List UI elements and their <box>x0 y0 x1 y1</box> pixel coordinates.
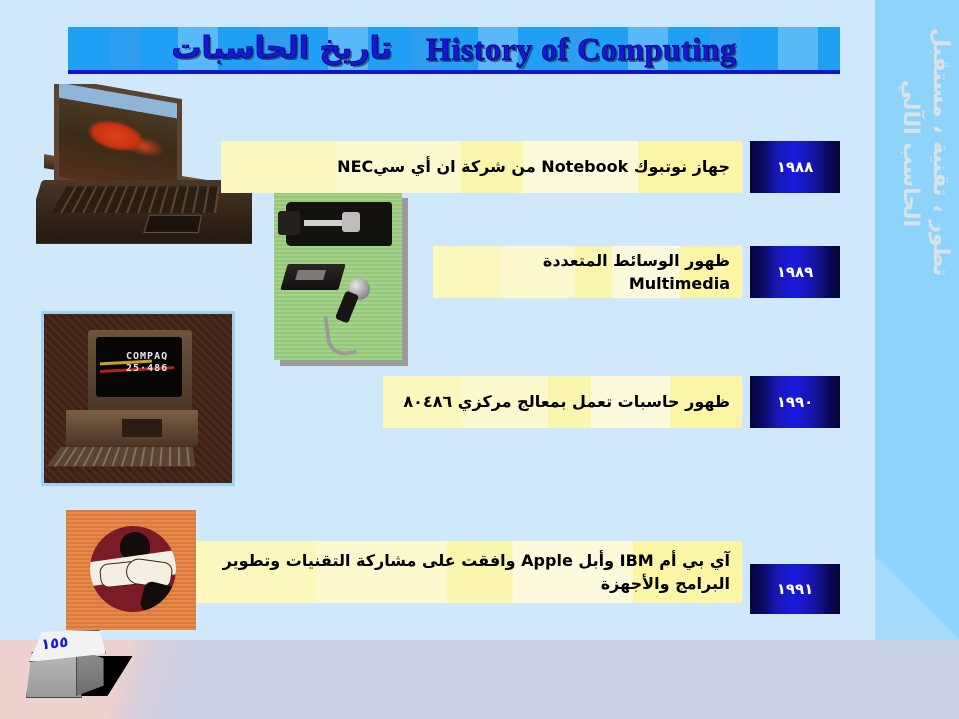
event-band-1991: آي بي أم IBM وأبل Apple وافقت على مشاركة… <box>196 541 742 603</box>
crt-monitor: COMPAQ 486·25 <box>88 330 192 412</box>
camcorder-icon <box>286 202 392 246</box>
event-text-1988: جهاز نوتبوك Notebook من شركة ان أي سيNEC <box>233 155 730 178</box>
event-band-1990: ظهور حاسبات تعمل بمعالج مركزي ٨٠٤٨٦ <box>383 376 742 428</box>
desktop-keyboard <box>46 447 195 467</box>
event-band-1989: ظهور الوسائط المتعددة Multimedia <box>433 246 742 298</box>
slide-canvas: تطور ، تقنية ، مستقبل الحاسب الآلي Histo… <box>0 0 959 719</box>
event-text-1990: ظهور حاسبات تعمل بمعالج مركزي ٨٠٤٨٦ <box>395 390 730 413</box>
year-badge-1990: ١٩٩٠ <box>750 376 840 428</box>
handshake-agreement-illustration <box>66 510 196 630</box>
laptop-keyboard <box>51 186 219 212</box>
year-badge-1988: ١٩٨٨ <box>750 141 840 193</box>
notebook-laptop-photo <box>36 84 252 266</box>
event-band-1988: جهاز نوتبوك Notebook من شركة ان أي سيNEC <box>221 141 742 193</box>
compaq-model: 486·25 <box>126 363 168 374</box>
title-english: History of Computing <box>426 33 736 65</box>
multimedia-devices-photo <box>274 192 402 360</box>
laptop-base <box>36 180 252 244</box>
camcorder-strip <box>304 220 344 226</box>
year-badge-1991: ١٩٩١ <box>750 564 840 614</box>
page-number-text: ١٥٥ <box>41 633 68 654</box>
sidebar-strip: تطور ، تقنية ، مستقبل الحاسب الآلي <box>875 0 959 640</box>
year-badge-1989: ١٩٨٩ <box>750 246 840 298</box>
bottom-diagonal-shape <box>0 640 959 719</box>
microphone-cord-icon <box>323 312 357 357</box>
event-text-1989: ظهور الوسائط المتعددة Multimedia <box>445 249 730 295</box>
title-arabic: تاريخ الحاسبات <box>171 34 392 64</box>
compaq-logo-text: COMPAQ 486·25 <box>126 351 168 374</box>
handshake-dark-sleeve <box>139 580 176 612</box>
handshake-circle <box>90 526 176 612</box>
videotape-icon <box>280 264 345 290</box>
title-banner: History of Computing تاريخ الحاسبات <box>68 27 840 74</box>
compaq-brand: COMPAQ <box>126 351 168 362</box>
compaq-486-desktop-photo: COMPAQ 486·25 <box>41 311 235 486</box>
laptop-trackpad <box>143 215 202 233</box>
page-number-keycap: ١٥٥ <box>22 630 118 702</box>
sidebar-vertical-text-2: الحاسب الآلي <box>898 80 923 227</box>
desktop-case <box>66 410 198 446</box>
sidebar-vertical-text-1: تطور ، تقنية ، مستقبل <box>928 28 953 276</box>
sidebar-corner-shade <box>875 556 959 640</box>
crt-screen: COMPAQ 486·25 <box>96 337 182 397</box>
event-text-1991: آي بي أم IBM وأبل Apple وافقت على مشاركة… <box>208 549 730 595</box>
